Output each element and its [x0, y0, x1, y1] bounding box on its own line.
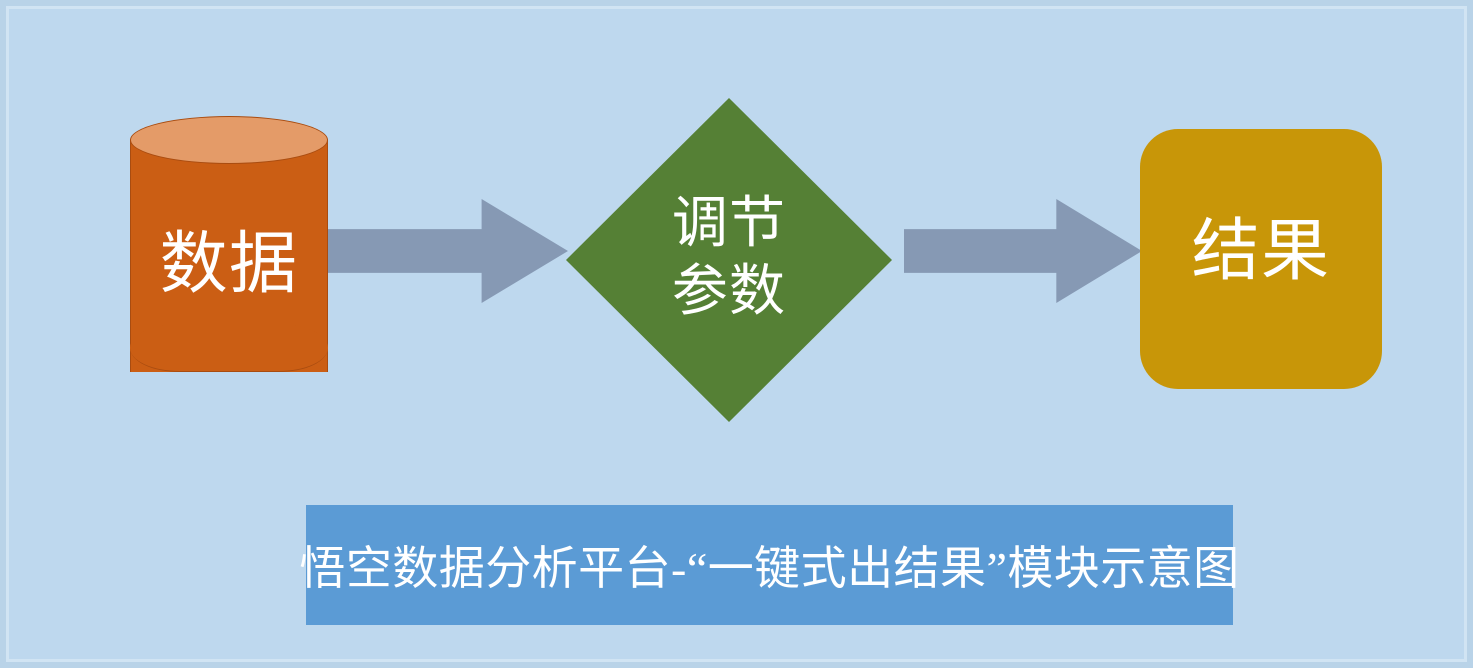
arrow-parameters-to-result	[904, 199, 1142, 303]
cylinder-bottom-ellipse	[130, 324, 328, 372]
diagram-canvas: 数据 调节 参数 结果 悟空数据分析平台-“一键式出结果”模块示意图	[0, 0, 1473, 668]
caption-banner: 悟空数据分析平台-“一键式出结果”模块示意图	[306, 505, 1233, 625]
node-result-label: 结果	[1140, 215, 1382, 287]
arrow-data-to-parameters	[328, 199, 568, 303]
node-result[interactable]: 结果	[1140, 129, 1382, 389]
cylinder-top-ellipse	[130, 116, 328, 164]
node-data-store[interactable]: 数据	[130, 116, 328, 396]
node-adjust-parameters[interactable]: 调节 参数	[566, 98, 892, 422]
caption-text: 悟空数据分析平台-“一键式出结果”模块示意图	[299, 532, 1239, 598]
diamond-shape	[566, 98, 892, 422]
